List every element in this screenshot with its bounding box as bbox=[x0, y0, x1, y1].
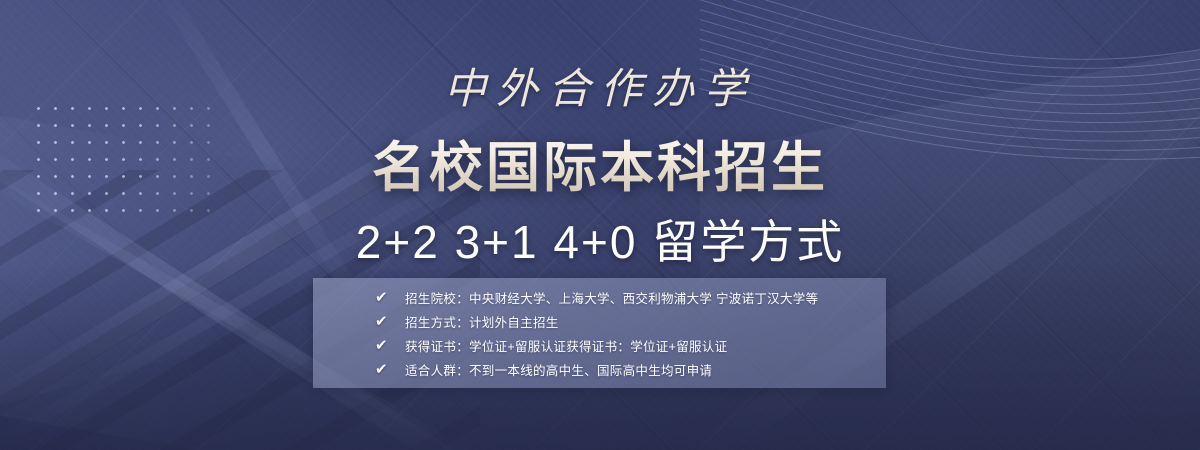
info-row-text: 获得证书：学位证+留服认证获得证书：学位证+留服认证 bbox=[405, 336, 727, 355]
check-icon: ✔ bbox=[375, 290, 405, 305]
info-row: ✔ 招生方式：计划外自主招生 bbox=[375, 309, 886, 333]
banner-script-title: 中外合作办学 bbox=[0, 55, 1200, 116]
check-icon: ✔ bbox=[375, 314, 405, 329]
promo-banner: 中外合作办学 名校国际本科招生 2+2 3+1 4+0 留学方式 ✔ 招生院校：… bbox=[0, 0, 1200, 450]
check-icon: ✔ bbox=[375, 362, 405, 377]
check-icon: ✔ bbox=[375, 338, 405, 353]
info-row: ✔ 适合人群：不到一本线的高中生、国际高中生均可申请 bbox=[375, 357, 886, 381]
info-row-text: 招生院校：中央财经大学、上海大学、西交利物浦大学 宁波诺丁汉大学等 bbox=[405, 288, 818, 307]
banner-tagline: 2+2 3+1 4+0 留学方式 bbox=[0, 206, 1200, 272]
info-row-text: 招生方式：计划外自主招生 bbox=[405, 312, 559, 331]
info-row: ✔ 招生院校：中央财经大学、上海大学、西交利物浦大学 宁波诺丁汉大学等 bbox=[375, 285, 886, 309]
info-row: ✔ 获得证书：学位证+留服认证获得证书：学位证+留服认证 bbox=[375, 333, 886, 357]
info-panel: ✔ 招生院校：中央财经大学、上海大学、西交利物浦大学 宁波诺丁汉大学等 ✔ 招生… bbox=[313, 278, 886, 388]
banner-headline: 名校国际本科招生 bbox=[0, 123, 1200, 202]
banner-content: 中外合作办学 名校国际本科招生 2+2 3+1 4+0 留学方式 ✔ 招生院校：… bbox=[0, 0, 1200, 450]
info-row-text: 适合人群：不到一本线的高中生、国际高中生均可申请 bbox=[405, 360, 712, 379]
